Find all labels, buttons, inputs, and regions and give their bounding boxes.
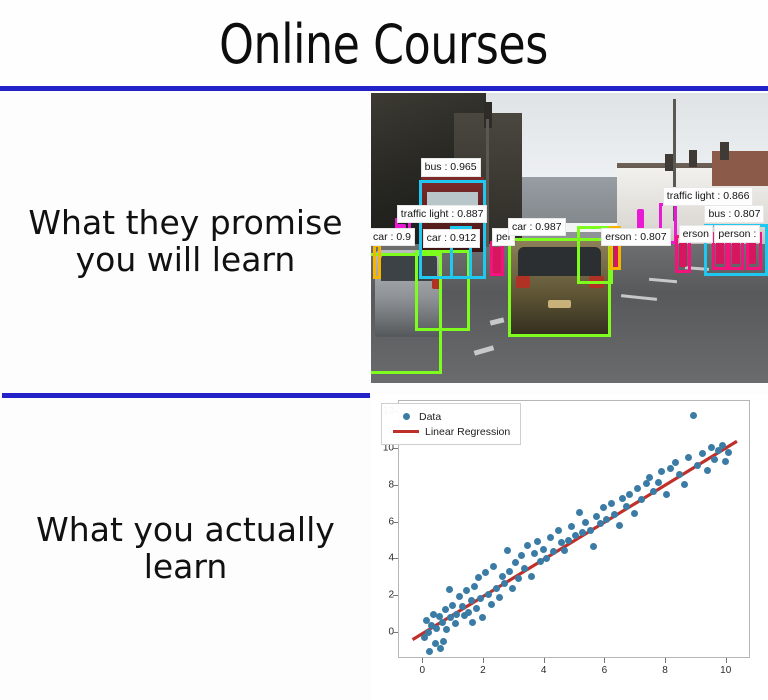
x-tick-mark [726, 658, 727, 663]
scatter-point [725, 449, 732, 456]
x-tick-label: 10 [720, 665, 731, 676]
scatter-point [482, 569, 489, 576]
scatter-point [561, 547, 568, 554]
scatter-point [518, 552, 525, 559]
x-tick-label: 0 [419, 665, 425, 676]
caption-top-text: What they promise you will learn [28, 205, 342, 279]
legend-marker-dot [403, 413, 410, 420]
scatter-point [565, 537, 572, 544]
detection-label: traffic light : 0.866 [663, 187, 754, 206]
legend-label-regression: Linear Regression [425, 426, 510, 438]
caption-top-panel: What they promise you will learn [0, 91, 371, 393]
scatter-point [488, 601, 495, 608]
scatter-point [496, 594, 503, 601]
y-tick-mark [393, 558, 398, 559]
scatter-point [473, 605, 480, 612]
scatter-point [534, 538, 541, 545]
x-tick-mark [544, 658, 545, 663]
scatter-point [699, 450, 706, 457]
scatter-point [465, 609, 472, 616]
scatter-point [616, 522, 623, 529]
scatter-point [490, 563, 497, 570]
scatter-point [475, 574, 482, 581]
scatter-point [440, 638, 447, 645]
chimney-icon [689, 150, 698, 167]
x-tick-mark [422, 658, 423, 663]
scatter-point [681, 481, 688, 488]
detection-label: person : [714, 225, 760, 244]
scatter-point [719, 442, 726, 449]
scatter-point [468, 597, 475, 604]
x-tick-mark [483, 658, 484, 663]
x-tick-label: 2 [480, 665, 486, 676]
scatter-point [459, 603, 466, 610]
scatter-point [722, 458, 729, 465]
y-tick-mark [393, 632, 398, 633]
scatter-point [638, 496, 645, 503]
scatter-point [667, 465, 674, 472]
scatter-point [582, 519, 589, 526]
scatter-point [512, 559, 519, 566]
object-detection-photo: bus : 0.965 traffic light : 0.887 car : … [371, 93, 768, 383]
scatter-point [521, 565, 528, 572]
scatter-point [634, 485, 641, 492]
chart-legend: Data Linear Regression [381, 403, 521, 445]
scatter-point [711, 456, 718, 463]
scatter-point [452, 620, 459, 627]
scatter-point [550, 548, 557, 555]
scatter-point [515, 575, 522, 582]
scatter-point [524, 542, 531, 549]
scatter-point [433, 625, 440, 632]
scatter-point [531, 550, 538, 557]
scatter-point [437, 645, 444, 652]
scatter-point [631, 510, 638, 517]
legend-label-data: Data [419, 411, 441, 423]
scatter-point [608, 500, 615, 507]
scatter-point [623, 503, 630, 510]
scatter-point [449, 602, 456, 609]
detection-label: car : 0.912 [423, 229, 481, 248]
x-tick-label: 6 [602, 665, 608, 676]
scatter-point [658, 468, 665, 475]
scatter-point [426, 648, 433, 655]
scatter-point [619, 495, 626, 502]
scatter-point [568, 523, 575, 530]
y-tick-label: 4 [364, 553, 394, 564]
legend-marker-line [393, 430, 419, 433]
detection-label: erson [679, 225, 713, 244]
detection-label: bus : 0.965 [421, 158, 481, 177]
scatter-point [593, 513, 600, 520]
scatter-point [543, 555, 550, 562]
linear-regression-chart: Data Linear Regression 024681012 0246810 [371, 395, 768, 700]
lamp-post [486, 119, 489, 247]
scatter-point [646, 474, 653, 481]
scatter-point [558, 539, 565, 546]
scatter-point [643, 480, 650, 487]
y-tick-label: 0 [364, 627, 394, 638]
pedestrian-silhouette [637, 209, 644, 229]
scatter-point [509, 585, 516, 592]
scatter-point [471, 583, 478, 590]
scatter-point [655, 479, 662, 486]
scatter-point [425, 629, 432, 636]
legend-entry-regression: Linear Regression [389, 424, 510, 439]
scatter-point [572, 532, 579, 539]
y-tick-label: 6 [364, 516, 394, 527]
scatter-point [590, 543, 597, 550]
y-tick-mark [393, 485, 398, 486]
scatter-point [626, 491, 633, 498]
caption-bottom-panel: What you actually learn [0, 398, 371, 700]
scatter-point [650, 488, 657, 495]
detection-label: erson : 0.807 [601, 228, 670, 247]
scatter-point [576, 509, 583, 516]
page-title: Online Courses [220, 13, 549, 76]
scatter-point [676, 471, 683, 478]
scatter-point [446, 586, 453, 593]
y-tick-mark [393, 522, 398, 523]
scatter-point [694, 462, 701, 469]
y-tick-mark [393, 448, 398, 449]
scatter-point [504, 547, 511, 554]
x-tick-label: 8 [662, 665, 668, 676]
detection-label: car : 0.9 [371, 228, 415, 247]
scatter-point [443, 626, 450, 633]
scatter-point [477, 595, 484, 602]
scatter-point [501, 580, 508, 587]
scatter-point [704, 467, 711, 474]
scatter-point [663, 491, 670, 498]
scatter-point [672, 459, 679, 466]
distant-skyline [514, 177, 625, 223]
detection-label: traffic light : 0.887 [397, 205, 488, 224]
scatter-point [453, 611, 460, 618]
scatter-point [469, 619, 476, 626]
scatter-point [690, 412, 697, 419]
scatter-point [579, 529, 586, 536]
x-tick-mark [604, 658, 605, 663]
scatter-point [528, 573, 535, 580]
y-tick-label: 8 [364, 479, 394, 490]
scatter-point [456, 593, 463, 600]
title-band: Online Courses [0, 0, 768, 88]
chimney-icon [720, 142, 729, 159]
bbox-person-orange-2 [373, 244, 381, 279]
legend-entry-data: Data [389, 409, 510, 424]
scatter-point [439, 619, 446, 626]
scatter-point [708, 444, 715, 451]
scatter-point [442, 606, 449, 613]
scatter-point [479, 614, 486, 621]
scatter-point [493, 585, 500, 592]
scatter-point [611, 511, 618, 518]
scatter-point [685, 454, 692, 461]
scatter-point [463, 587, 470, 594]
scatter-point [506, 568, 513, 575]
scatter-point [603, 516, 610, 523]
scatter-point [600, 504, 607, 511]
scatter-point [587, 527, 594, 534]
y-tick-label: 2 [364, 590, 394, 601]
scatter-point [555, 527, 562, 534]
caption-bottom-text: What you actually learn [36, 512, 335, 586]
x-tick-mark [665, 658, 666, 663]
detection-label: bus : 0.807 [704, 205, 764, 224]
meme-image: Online Courses What they promise you wil… [0, 0, 768, 700]
detection-label: car : 0.987 [508, 218, 566, 237]
scatter-point [540, 546, 547, 553]
scatter-point [485, 591, 492, 598]
x-tick-label: 4 [541, 665, 547, 676]
scatter-point [547, 534, 554, 541]
y-tick-mark [393, 595, 398, 596]
